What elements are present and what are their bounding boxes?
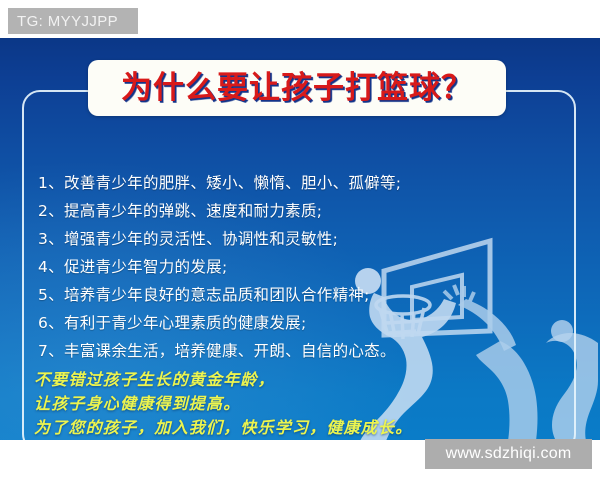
site-watermark-badge: www.sdzhiqi.com [425,439,592,469]
site-watermark-label: www.sdzhiqi.com [446,445,572,463]
poster-image: 1、改善青少年的肥胖、矮小、懒惰、胆小、孤僻等; 2、提高青少年的弹跳、速度和耐… [0,0,600,480]
list-item: 2、提高青少年的弹跳、速度和耐力素质; [38,197,468,225]
slogan-line: 让孩子身心健康得到提高。 [34,392,504,416]
list-item: 3、增强青少年的灵活性、协调性和灵敏性; [38,225,468,253]
list-item: 1、改善青少年的肥胖、矮小、懒惰、胆小、孤僻等; [38,169,468,197]
page-title: 为什么要让孩子打篮球？ [121,73,473,104]
list-item: 7、丰富课余生活，培养健康、开朗、自信的心态。 [38,337,468,365]
slogan-block: 不要错过孩子生长的黄金年龄， 让孩子身心健康得到提高。 为了您的孩子，加入我们，… [34,368,504,440]
tg-watermark-badge: TG: MYYJJPP [8,8,138,34]
benefits-list: 1、改善青少年的肥胖、矮小、懒惰、胆小、孤僻等; 2、提高青少年的弹跳、速度和耐… [38,169,468,365]
slogan-line: 为了您的孩子，加入我们，快乐学习，健康成长。 [34,416,504,440]
poster-title-card: 为什么要让孩子打篮球？ [88,60,506,116]
slogan-line: 不要错过孩子生长的黄金年龄， [34,368,504,392]
list-item: 4、促进青少年智力的发展; [38,253,468,281]
list-item: 5、培养青少年良好的意志品质和团队合作精神; [38,281,468,309]
tg-watermark-label: TG: MYYJJPP [8,13,118,30]
list-item: 6、有利于青少年心理素质的健康发展; [38,309,468,337]
